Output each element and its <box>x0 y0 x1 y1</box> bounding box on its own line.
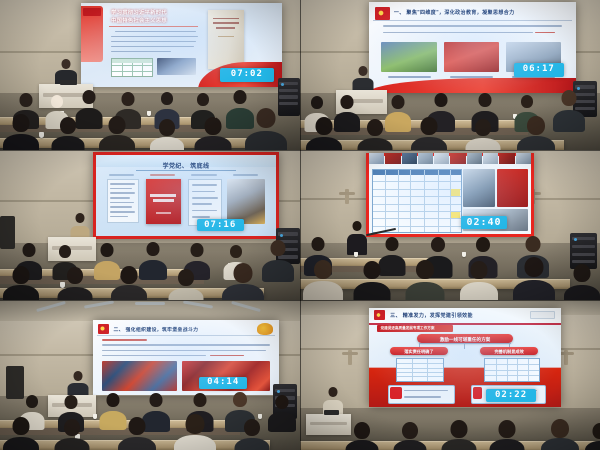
slide-side-tab-header <box>83 8 101 16</box>
slide-right-card-icon <box>473 387 483 399</box>
audience-member <box>51 419 93 450</box>
lecture-room: 02:40 <box>300 150 600 300</box>
highlighted-cell <box>451 212 460 218</box>
slide-title-line-2: 中国特色社会主义思想 <box>111 17 167 25</box>
projection-screen[interactable]: 02:40 <box>366 153 534 237</box>
lecture-room: 学党纪、 筑底线 <box>0 150 300 300</box>
projection-screen[interactable]: 学习贯彻习近平新时代 中国特色社会主义思想 <box>81 3 282 87</box>
projection-screen[interactable]: 一、 聚焦"四维度"，深化政治教育，凝聚思想合力 06:17 <box>369 2 576 94</box>
audience-member <box>0 417 42 450</box>
audience-member <box>462 119 504 151</box>
slide-book-mockup <box>208 10 244 69</box>
collage-seam-horizontal <box>0 150 600 151</box>
slide-heading: 学党纪、 筑底线 <box>163 161 210 170</box>
laptop <box>60 80 77 85</box>
slide-heading: 三、 精准发力，发挥党建引领效能 <box>390 312 473 319</box>
audience-member <box>510 257 558 301</box>
audience-member <box>390 422 429 450</box>
audience-member <box>537 419 582 450</box>
audience-member <box>303 117 345 150</box>
lecture-room: 一、 聚焦"四维度"，深化政治教育，凝聚思想合力 06:17 <box>300 0 600 150</box>
audience-member <box>300 260 345 301</box>
audience-member <box>0 266 42 301</box>
slide-surface: 三、 精准发力，发挥党建引领效能 党建促进高质量发展专项工作方案 激励一线可堪重… <box>369 308 561 407</box>
slide-surface: 一、 聚焦"四维度"，深化政治教育，凝聚思想合力 06:17 <box>369 2 576 94</box>
projection-screen[interactable]: 三、 精准发力，发挥党建引领效能 党建促进高质量发展专项工作方案 激励一线可堪重… <box>369 308 561 407</box>
party-emblem-icon <box>374 310 386 320</box>
slide-text-column <box>107 179 140 223</box>
collage-panel-top-left[interactable]: 学习贯彻习近平新时代 中国特色社会主义思想 <box>0 0 300 150</box>
slide-red-wave-footer <box>369 78 576 93</box>
presentation-collage: 学习贯彻习近平新时代 中国特色社会主义思想 <box>0 0 600 450</box>
countdown-timer: 06:17 <box>514 63 564 77</box>
audience-member <box>408 117 450 150</box>
presenter <box>342 221 372 254</box>
audience-member <box>513 116 558 151</box>
projection-screen[interactable]: 二、 强化组织建设，筑牢堡垒战斗力 04:14 <box>93 320 279 395</box>
audience-member <box>438 420 480 450</box>
slide-spreadsheet <box>372 169 461 233</box>
slide-surface: 学习贯彻习近平新时代 中国特色社会主义思想 <box>81 3 282 87</box>
audience-member <box>147 119 186 151</box>
slide-surface: 02:40 <box>369 156 531 234</box>
highlighted-cell <box>451 189 460 195</box>
slide-subtitle: 党建促进高质量发展专项工作方案 <box>381 326 435 331</box>
slide-photo-1 <box>381 42 437 72</box>
audience-member <box>192 117 234 150</box>
lecture-room: 二、 强化组织建设，筑牢堡垒战斗力 04:14 <box>0 300 300 450</box>
collage-panel-bottom-left[interactable]: 二、 强化组织建设，筑牢堡垒战斗力 04:14 <box>0 300 300 450</box>
audience-member <box>108 266 150 301</box>
audience-member <box>402 260 447 301</box>
presenter <box>348 66 378 93</box>
slide-thumbnail-strip <box>369 153 531 164</box>
countdown-timer: 02:22 <box>486 389 536 402</box>
wall-sconce-icon <box>345 189 349 204</box>
slide-left-card-icon <box>390 387 402 399</box>
slide-logo-box <box>530 311 555 319</box>
collage-panel-top-right[interactable]: 一、 聚焦"四维度"，深化政治教育，凝聚思想合力 06:17 <box>300 0 600 150</box>
countdown-timer: 07:02 <box>220 68 274 82</box>
slide-left-table <box>396 358 444 382</box>
laptop <box>324 410 339 415</box>
audience-member <box>354 119 396 151</box>
slide-red-book-cover <box>146 179 180 224</box>
wall-sconce-icon <box>564 350 568 365</box>
audience-member <box>486 420 528 450</box>
audience-member <box>219 263 267 301</box>
audience-member <box>351 261 393 300</box>
collage-seam-horizontal <box>0 300 600 301</box>
title-underline <box>109 26 197 27</box>
lecture-room: 学习贯彻习近平新时代 中国特色社会主义思想 <box>0 0 300 150</box>
slide-right-table <box>484 358 540 382</box>
audience-member <box>96 116 138 151</box>
collage-seam-vertical <box>300 0 301 450</box>
collage-panel-middle-left[interactable]: 学党纪、 筑底线 <box>0 150 300 300</box>
lecture-room: 三、 精准发力，发挥党建引领效能 党建促进高质量发展专项工作方案 激励一线可堪重… <box>300 300 600 450</box>
slide-heading: 二、 强化组织建设，筑牢堡垒战斗力 <box>113 326 198 333</box>
countdown-timer: 04:14 <box>199 377 247 390</box>
audience-member <box>54 267 96 300</box>
party-emblem-icon <box>98 324 109 334</box>
audience-member <box>561 264 600 300</box>
slide-photo-mosaic-left <box>102 361 176 391</box>
audience-member <box>114 417 159 450</box>
audience-member <box>171 414 219 450</box>
slide-red-poster <box>497 169 528 206</box>
party-emblem-icon <box>375 7 389 20</box>
megaphone-icon <box>257 323 274 335</box>
collage-panel-middle-right[interactable]: 02:40 <box>300 150 600 300</box>
audience-member <box>243 108 288 150</box>
slide-photo-2 <box>444 42 500 72</box>
audience-member <box>48 117 87 150</box>
audience-member <box>342 422 381 450</box>
slide-photo-thumbnail <box>157 58 195 75</box>
audience-member <box>231 419 273 450</box>
audience-member <box>0 114 42 150</box>
audience-member <box>582 423 600 450</box>
slide-surface: 二、 强化组织建设，筑牢堡垒战斗力 04:14 <box>93 320 279 395</box>
countdown-timer: 07:16 <box>197 219 244 231</box>
slide-data-table <box>111 58 153 77</box>
slide-right-pill-label: 完善机制显成效 <box>480 349 538 355</box>
projection-screen[interactable]: 学党纪、 筑底线 <box>93 152 279 239</box>
slide-document-photo <box>463 169 495 206</box>
ceiling-light-strip <box>135 302 165 305</box>
audience-member <box>456 261 501 300</box>
slide-site-visit-photo <box>227 179 265 224</box>
paper-cup <box>354 252 358 257</box>
slide-heading: 一、 聚焦"四维度"，深化政治教育，凝聚思想合力 <box>394 9 515 16</box>
slide-left-pill-label: 落实责任明确了 <box>390 349 448 355</box>
wall-sconce-icon <box>348 350 352 365</box>
audience-member <box>165 269 207 301</box>
slide-title-line-1: 学习贯彻习近平新时代 <box>111 9 167 17</box>
slide-surface: 学党纪、 筑底线 <box>96 155 276 236</box>
countdown-timer: 02:40 <box>461 216 506 229</box>
slide-banner-label: 激励一线可堪重任的方案 <box>417 337 513 343</box>
collage-panel-bottom-right[interactable]: 三、 精准发力，发挥党建引领效能 党建促进高质量发展专项工作方案 激励一线可堪重… <box>300 300 600 450</box>
